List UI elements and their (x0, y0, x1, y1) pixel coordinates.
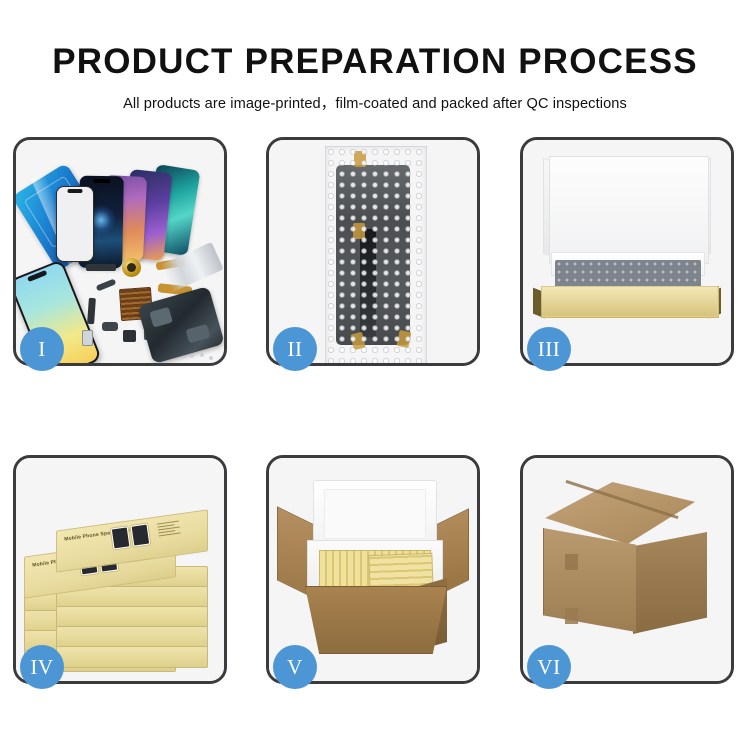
page-title: PRODUCT PREPARATION PROCESS (0, 44, 750, 81)
sim-tray-component (82, 330, 93, 346)
component-bar (86, 264, 116, 271)
carton-side-panel (633, 532, 707, 634)
step-panel-1: I (13, 137, 227, 366)
label-thumbnail (111, 526, 131, 549)
carton-tape-mark (565, 608, 578, 624)
label-line (159, 532, 181, 536)
step-panel-5: V (266, 455, 480, 684)
box-stack: Mobile Phone Spare Parts Mobile Phone Sp… (22, 472, 218, 668)
box-lid-panel (549, 156, 709, 264)
foam-box-lid (313, 480, 437, 548)
product-preparation-infographic: PRODUCT PREPARATION PROCESS All products… (0, 0, 750, 750)
page-subtitle: All products are image-printed，film-coat… (0, 92, 750, 113)
kraft-box-tray-shade (541, 286, 717, 316)
step-panel-2: II (266, 137, 480, 366)
process-step-grid: I II (0, 137, 750, 697)
label-thumbnail (131, 524, 151, 547)
step-panel-6: VI (520, 455, 734, 684)
component-bar (123, 330, 136, 342)
stacked-box (56, 606, 208, 628)
carton-front-panel (305, 586, 447, 654)
component-bar (87, 298, 96, 324)
step-badge-3: III (527, 327, 571, 371)
notch-icon (27, 270, 47, 282)
phone-screen-glass (56, 186, 94, 262)
screws-component (188, 351, 214, 361)
adhesive-tab (396, 330, 411, 348)
component-bar (102, 322, 118, 331)
notch-icon (68, 189, 83, 193)
stacked-box (56, 646, 208, 668)
wrapped-flex-cable (360, 229, 376, 337)
box-label-lines (157, 521, 181, 539)
step-badge-1: I (20, 327, 64, 371)
flex-cable (96, 278, 117, 291)
adhesive-tab (353, 223, 365, 239)
step-badge-5: V (273, 645, 317, 689)
step-badge-6: VI (527, 645, 571, 689)
step-panel-3: III (520, 137, 734, 366)
step-badge-4: IV (20, 645, 64, 689)
header: PRODUCT PREPARATION PROCESS All products… (0, 0, 750, 113)
carton-tape-mark (565, 554, 578, 570)
bubble-wrap-bag (325, 146, 427, 363)
adhesive-tab (354, 151, 366, 167)
stacked-box (56, 626, 208, 648)
speaker-component (122, 258, 141, 277)
step-panel-4: Mobile Phone Spare Parts Mobile Phone Sp… (13, 455, 227, 684)
carton-front-panel (543, 528, 636, 632)
notch-icon (93, 179, 110, 183)
step-badge-2: II (273, 327, 317, 371)
